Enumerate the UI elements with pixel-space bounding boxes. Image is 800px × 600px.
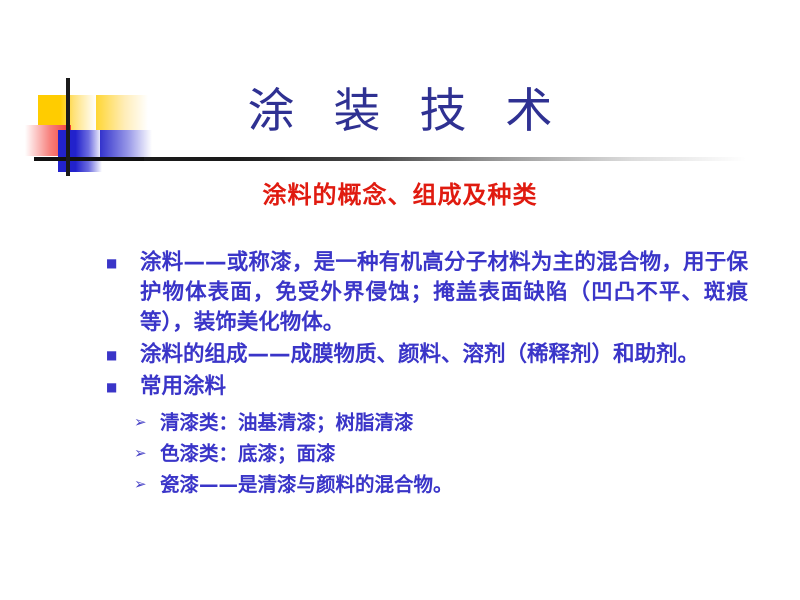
presentation-slide: 涂 装 技 术 涂料的概念、组成及种类 ■ 涂料——或称漆，是一种有机高分子材料… xyxy=(0,0,800,600)
horizontal-rule-stub-icon xyxy=(34,157,144,161)
arrow-bullet-icon: ➢ xyxy=(134,407,160,438)
slide-subtitle: 涂料的概念、组成及种类 xyxy=(0,181,800,210)
bullet-text: 涂料的组成——成膜物质、颜料、溶剂（稀释剂）和助剂。 xyxy=(140,340,748,370)
bullet-item: ■ 常用涂料 xyxy=(104,372,748,402)
bullet-text: 涂料——或称漆，是一种有机高分子材料为主的混合物，用于保护物体表面，免受外界侵蚀… xyxy=(140,248,748,338)
bullet-item: ■ 涂料——或称漆，是一种有机高分子材料为主的混合物，用于保护物体表面，免受外界… xyxy=(104,248,748,338)
horizontal-rule-icon xyxy=(34,157,746,161)
sub-bullet-text: 瓷漆——是清漆与颜料的混合物。 xyxy=(160,469,748,500)
square-bullet-icon: ■ xyxy=(104,248,140,278)
arrow-bullet-icon: ➢ xyxy=(134,469,160,500)
slide-body: ■ 涂料——或称漆，是一种有机高分子材料为主的混合物，用于保护物体表面，免受外界… xyxy=(104,248,748,500)
sub-bullet-item: ➢ 色漆类：底漆；面漆 xyxy=(134,438,748,469)
sub-bullet-item: ➢ 瓷漆——是清漆与颜料的混合物。 xyxy=(134,469,748,500)
sub-bullet-list: ➢ 清漆类：油基清漆；树脂清漆 ➢ 色漆类：底漆；面漆 ➢ 瓷漆——是清漆与颜料… xyxy=(134,407,748,500)
square-bullet-icon: ■ xyxy=(104,372,140,402)
bullet-text: 常用涂料 xyxy=(140,372,748,402)
sub-bullet-text: 清漆类：油基清漆；树脂清漆 xyxy=(160,407,748,438)
square-bullet-icon: ■ xyxy=(104,340,140,370)
sub-bullet-item: ➢ 清漆类：油基清漆；树脂清漆 xyxy=(134,407,748,438)
arrow-bullet-icon: ➢ xyxy=(134,438,160,469)
slide-title: 涂 装 技 术 xyxy=(0,84,800,139)
bullet-item: ■ 涂料的组成——成膜物质、颜料、溶剂（稀释剂）和助剂。 xyxy=(104,340,748,370)
sub-bullet-text: 色漆类：底漆；面漆 xyxy=(160,438,748,469)
